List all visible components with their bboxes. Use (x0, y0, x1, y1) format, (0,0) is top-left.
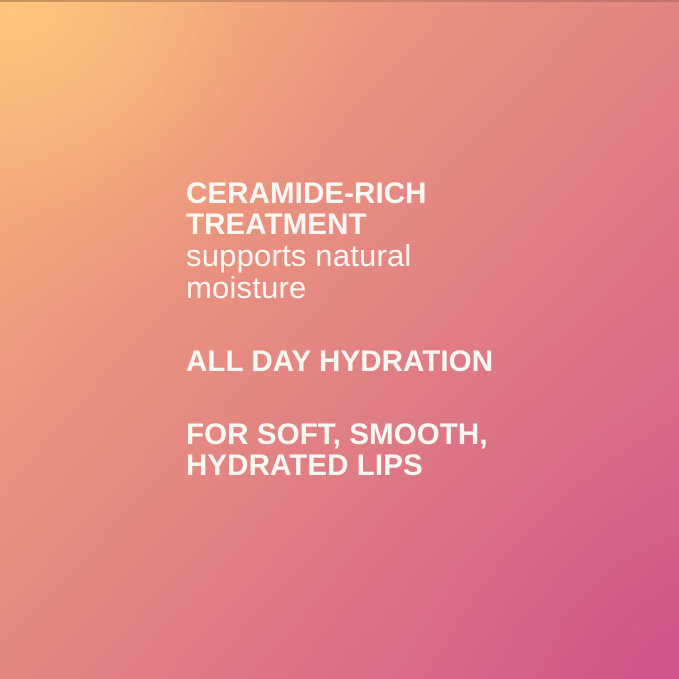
claim-block-soft-smooth-hydrated-lips: FOR SOFT, SMOOTH, HYDRATED LIPS (186, 419, 606, 481)
claim-line: moisture (186, 272, 606, 304)
claim-line: CERAMIDE-RICH (186, 178, 606, 209)
claims-text-stack: CERAMIDE-RICH TREATMENT supports natural… (186, 178, 606, 481)
claim-line: FOR SOFT, SMOOTH, (186, 419, 606, 450)
claim-line: ALL DAY HYDRATION (186, 346, 606, 377)
claim-line: TREATMENT (186, 209, 606, 240)
top-edge-line (0, 0, 679, 2)
claim-block-all-day-hydration: ALL DAY HYDRATION (186, 346, 606, 377)
claim-block-ceramide-rich-treatment: CERAMIDE-RICH TREATMENT supports natural… (186, 178, 606, 304)
claim-line: supports natural (186, 240, 606, 272)
claim-line: HYDRATED LIPS (186, 450, 606, 481)
product-claims-card: CERAMIDE-RICH TREATMENT supports natural… (0, 0, 679, 679)
